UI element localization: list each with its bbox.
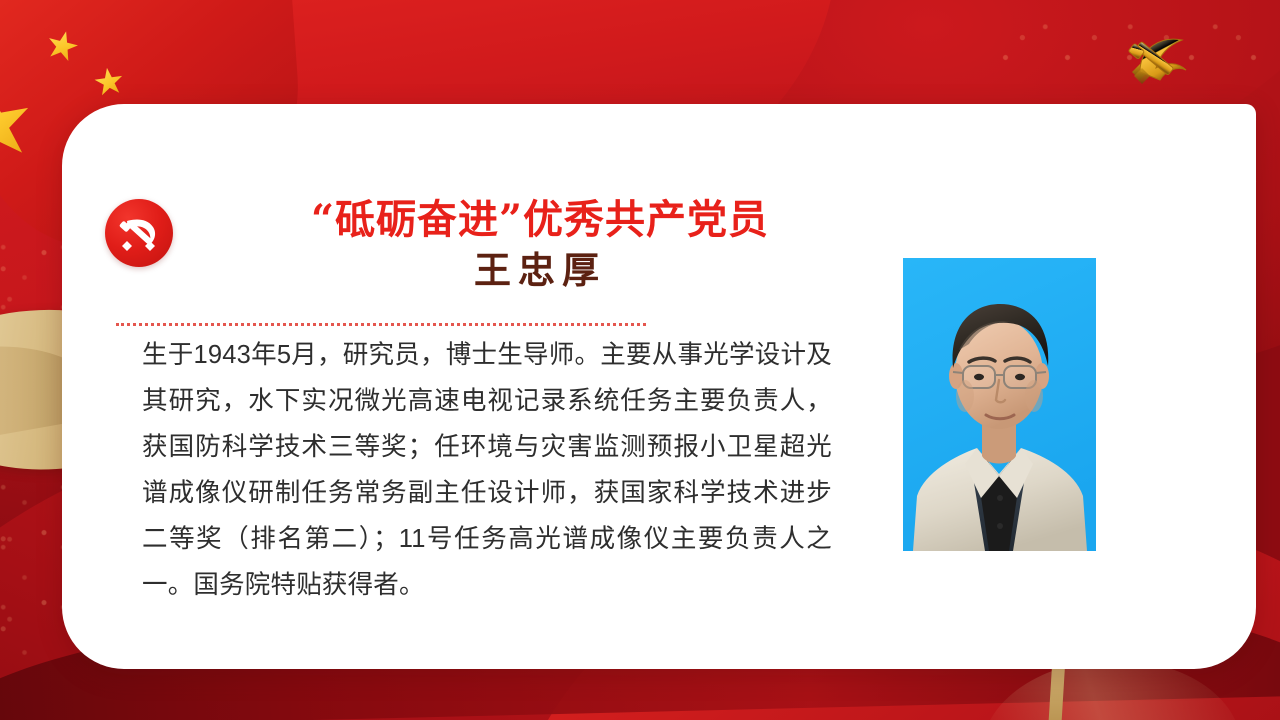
page-title: “砥砺奋进”优秀共产党员: [190, 196, 890, 245]
biography-text: 生于1943年5月，研究员，博士生导师。主要从事光学设计及其研究，水下实况微光高…: [142, 332, 832, 608]
flag-star-small-1: [44, 28, 82, 66]
portrait-photo: [903, 258, 1096, 551]
person-name: 王忠厚: [190, 247, 890, 293]
flag-star-large: [0, 82, 38, 170]
party-emblem-hammer-sickle-icon: [105, 199, 173, 267]
slide-root: “砥砺奋进”优秀共产党员 王忠厚 生于1943年5月，研究员，博士生导师。主要从…: [0, 0, 1280, 720]
title-block: “砥砺奋进”优秀共产党员 王忠厚: [190, 196, 890, 293]
dotted-divider: [116, 323, 646, 326]
flag-star-small-2: [93, 66, 126, 99]
gold-hammer-sickle-emblem-icon: [1112, 22, 1204, 96]
content-card: “砥砺奋进”优秀共产党员 王忠厚 生于1943年5月，研究员，博士生导师。主要从…: [62, 104, 1256, 669]
